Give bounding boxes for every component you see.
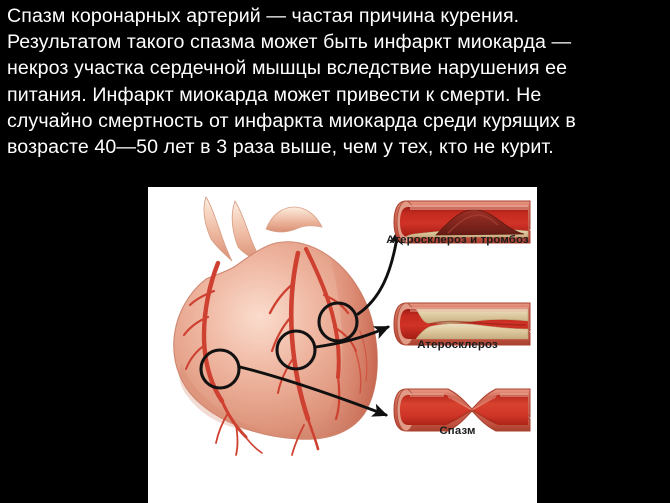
caption-line-1: Спазм коронарных артерий — частая причин… (7, 3, 667, 29)
vessel1-top-highlight (410, 205, 528, 210)
vessel3-top-highlight-right (500, 393, 528, 397)
caption-text: Спазм коронарных артерий — частая причин… (7, 3, 667, 160)
caption-line-4: питания. Инфаркт миокарда может привести… (7, 82, 667, 108)
artery-branch-f (236, 425, 238, 455)
caption-line-2: Результатом такого спазма может быть инф… (7, 29, 667, 55)
caption-line-5: случайно смертность от инфаркта миокарда… (7, 108, 667, 134)
vessel2-top-highlight (410, 307, 528, 312)
vessel-label-atherosclerosis: Атеросклероз (380, 339, 535, 351)
vessel-label-thrombosis: Атеросклероз и тромбоз (380, 234, 535, 246)
caption-line-6: возрасте 40—50 лет в 3 раза выше, чем у … (7, 134, 667, 160)
vessel-label-spasm: Спазм (380, 425, 535, 437)
artery-branch-g (244, 435, 262, 453)
figure-panel: Атеросклероз и тромбоз Атеросклероз Спаз… (148, 187, 537, 503)
vessel3-top-highlight (410, 393, 444, 397)
caption-line-3: некроз участка сердечной мышцы вследстви… (7, 55, 667, 81)
vessel3-lumen (400, 395, 528, 425)
slide-root: Спазм коронарных артерий — частая причин… (0, 0, 670, 503)
heart-illustration (174, 197, 378, 455)
aortic-arch (266, 207, 322, 232)
pulmonary-trunk (204, 197, 232, 261)
